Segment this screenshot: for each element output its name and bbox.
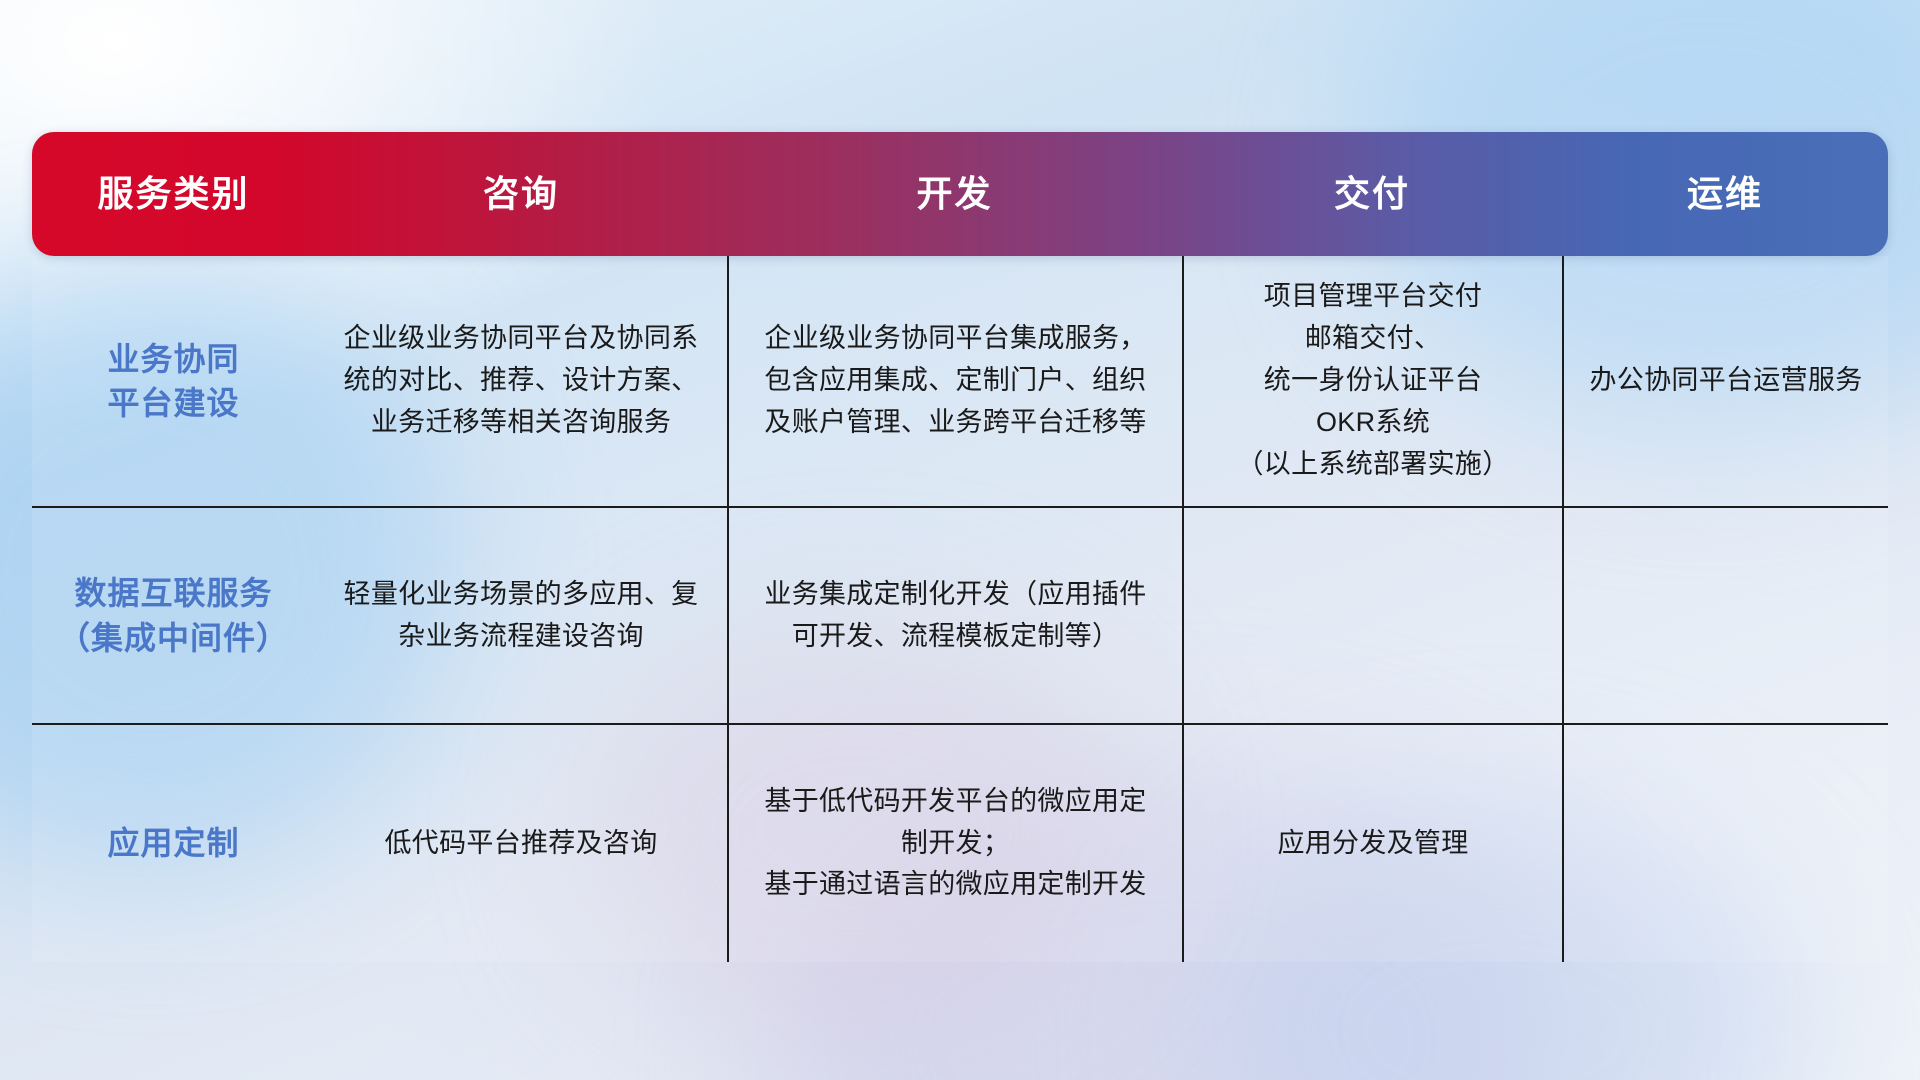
- table-cell-operations: [1562, 725, 1888, 962]
- cell-text: 办公协同平台运营服务: [1590, 360, 1863, 402]
- table-header-cell-development: 开发: [727, 176, 1182, 212]
- table-cell-consulting: 企业级业务协同平台及协同系 统的对比、推荐、设计方案、 业务迁移等相关咨询服务: [315, 256, 727, 506]
- cell-text: 业务集成定制化开发（应用插件 可开发、流程模板定制等）: [764, 574, 1146, 658]
- table-header-cell-delivery: 交付: [1182, 176, 1562, 212]
- table-header-cell-consulting: 咨询: [315, 176, 727, 212]
- cell-text: 企业级业务协同平台集成服务， 包含应用集成、定制门户、组织 及账户管理、业务跨平…: [764, 318, 1146, 444]
- table-cell-category: 应用定制: [32, 725, 315, 962]
- table-cell-operations: 办公协同平台运营服务: [1562, 256, 1888, 506]
- table-cell-development: 企业级业务协同平台集成服务， 包含应用集成、定制门户、组织 及账户管理、业务跨平…: [727, 256, 1182, 506]
- table-cell-category: 数据互联服务 （集成中间件）: [32, 508, 315, 723]
- table-body: 业务协同 平台建设 企业级业务协同平台及协同系 统的对比、推荐、设计方案、 业务…: [32, 256, 1888, 962]
- table-cell-consulting: 轻量化业务场景的多应用、复 杂业务流程建设咨询: [315, 508, 727, 723]
- cell-text: 基于低代码开发平台的微应用定 制开发； 基于通过语言的微应用定制开发: [764, 781, 1146, 907]
- table-row: 应用定制 低代码平台推荐及咨询 基于低代码开发平台的微应用定 制开发； 基于通过…: [32, 725, 1888, 962]
- category-label: 数据互联服务 （集成中间件）: [58, 571, 289, 659]
- table-cell-category: 业务协同 平台建设: [32, 256, 315, 506]
- table-cell-consulting: 低代码平台推荐及咨询: [315, 725, 727, 962]
- cell-text: 轻量化业务场景的多应用、复 杂业务流程建设咨询: [344, 574, 699, 658]
- category-label: 应用定制: [107, 821, 239, 865]
- table-cell-delivery: 项目管理平台交付 邮箱交付、 统一身份认证平台 OKR系统 （以上系统部署实施）: [1182, 256, 1562, 506]
- category-label: 业务协同 平台建设: [107, 337, 239, 425]
- table-cell-operations: [1562, 508, 1888, 723]
- cell-text: 企业级业务协同平台及协同系 统的对比、推荐、设计方案、 业务迁移等相关咨询服务: [344, 318, 699, 444]
- table-cell-delivery: [1182, 508, 1562, 723]
- table-header-cell-operations: 运维: [1562, 176, 1888, 212]
- service-matrix-table: 服务类别 咨询 开发 交付 运维 业务协同 平台建设 企业级业务协同平台及协同系…: [32, 132, 1888, 958]
- cell-text: 低代码平台推荐及咨询: [385, 823, 658, 865]
- table-row: 业务协同 平台建设 企业级业务协同平台及协同系 统的对比、推荐、设计方案、 业务…: [32, 256, 1888, 508]
- table-cell-development: 业务集成定制化开发（应用插件 可开发、流程模板定制等）: [727, 508, 1182, 723]
- table-header-cell-category: 服务类别: [32, 176, 315, 212]
- table-row: 数据互联服务 （集成中间件） 轻量化业务场景的多应用、复 杂业务流程建设咨询 业…: [32, 508, 1888, 725]
- cell-text: 项目管理平台交付 邮箱交付、 统一身份认证平台 OKR系统 （以上系统部署实施）: [1237, 276, 1510, 485]
- table-cell-development: 基于低代码开发平台的微应用定 制开发； 基于通过语言的微应用定制开发: [727, 725, 1182, 962]
- cell-text: 应用分发及管理: [1277, 823, 1468, 865]
- table-cell-delivery: 应用分发及管理: [1182, 725, 1562, 962]
- table-header-row: 服务类别 咨询 开发 交付 运维: [32, 132, 1888, 256]
